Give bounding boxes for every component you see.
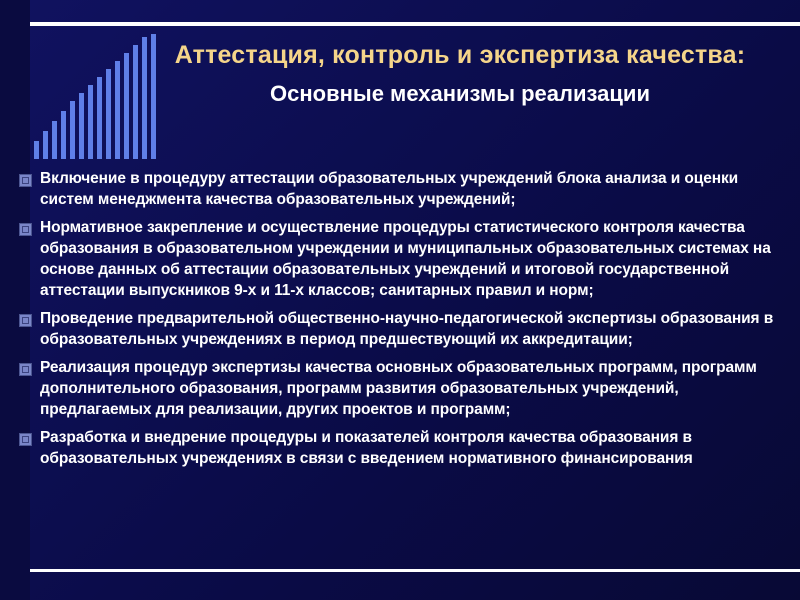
list-item: Включение в процедуру аттестации образов… [18,168,788,210]
list-item-text: Реализация процедур экспертизы качества … [40,357,788,420]
list-item-text: Разработка и внедрение процедуры и показ… [40,427,788,469]
bullet-square-icon [18,173,32,187]
top-divider-rule [30,22,800,26]
list-item: Реализация процедур экспертизы качества … [18,357,788,420]
bullet-square-icon [18,313,32,327]
slide-canvas: Аттестация, контроль и экспертиза качест… [0,0,800,600]
list-item-text: Включение в процедуру аттестации образов… [40,168,788,210]
title-primary: Аттестация, контроль и экспертиза качест… [150,38,770,72]
bar-chart-decoration-icon [34,34,154,159]
bullet-square-icon [18,222,32,236]
list-item: Нормативное закрепление и осуществление … [18,217,788,301]
bullet-list: Включение в процедуру аттестации образов… [18,168,788,476]
bottom-divider-rule [30,569,800,572]
list-item-text: Проведение предварительной общественно-н… [40,308,788,350]
list-item-text: Нормативное закрепление и осуществление … [40,217,788,301]
list-item: Разработка и внедрение процедуры и показ… [18,427,788,469]
slide-title: Аттестация, контроль и экспертиза качест… [150,38,770,110]
bullet-square-icon [18,432,32,446]
list-item: Проведение предварительной общественно-н… [18,308,788,350]
title-secondary: Основные механизмы реализации [150,78,770,110]
bullet-square-icon [18,362,32,376]
